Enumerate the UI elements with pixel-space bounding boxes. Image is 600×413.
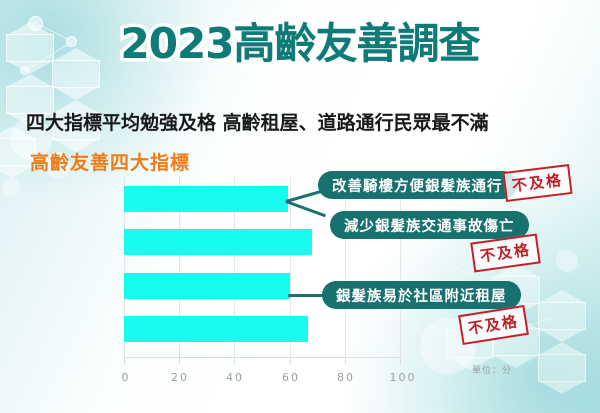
bar-value[interactable] <box>124 273 290 299</box>
x-tick-40 <box>234 358 235 364</box>
x-tick-0 <box>124 358 125 364</box>
gridline-100 <box>400 176 401 358</box>
page-title-outline: 2023高齡友善調查 <box>0 22 600 66</box>
x-ticklabel-0: 0 <box>122 371 131 384</box>
gridline-80 <box>345 176 346 358</box>
callout-label: 減少銀髮族交通事故傷亡 <box>344 215 515 236</box>
callout-label: 改善騎樓方便銀髮族通行 <box>332 175 503 196</box>
x-ticklabel-40: 40 <box>226 371 244 384</box>
infographic-canvas: 2023高齡友善調查 2023高齡友善調查 四大指標平均勉強及格 高齡租屋、道路… <box>0 0 600 413</box>
bar-value[interactable] <box>124 316 308 342</box>
bar-value[interactable] <box>124 186 288 212</box>
x-tick-100 <box>400 358 401 364</box>
fail-stamp-label: 不及格 <box>511 171 564 195</box>
subtitle: 四大指標平均勉強及格 高齡租屋、道路通行民眾最不滿 <box>26 108 574 135</box>
x-ticklabel-60: 60 <box>282 371 300 384</box>
x-ticklabel-80: 80 <box>337 371 355 384</box>
unit-note: 單位：分 <box>472 363 512 376</box>
bar-chart: 0 20 40 60 80 100 行動無礙 交通暢行 居住友善 生活照顧 <box>0 176 420 376</box>
bar-value[interactable] <box>124 229 312 255</box>
fail-stamp-label: 不及格 <box>479 241 532 266</box>
section-heading: 高齡友善四大指標 <box>30 148 190 175</box>
fail-stamp-label: 不及格 <box>467 312 520 338</box>
x-ticklabel-20: 20 <box>171 371 189 384</box>
callout-label: 銀髮族易於社區附近租屋 <box>336 285 507 306</box>
page-title: 2023高齡友善調查 <box>121 22 480 66</box>
x-ticklabel-100: 100 <box>390 371 417 384</box>
x-tick-60 <box>290 358 291 364</box>
x-axis-line <box>124 357 400 358</box>
callout-pill-1[interactable]: 改善騎樓方便銀髮族通行 <box>318 171 517 199</box>
x-tick-20 <box>179 358 180 364</box>
chart-plot-area: 0 20 40 60 80 100 行動無礙 交通暢行 居住友善 生活照顧 <box>124 176 400 358</box>
x-tick-80 <box>345 358 346 364</box>
callout-pill-3[interactable]: 銀髮族易於社區附近租屋 <box>322 281 521 309</box>
callout-pill-2[interactable]: 減少銀髮族交通事故傷亡 <box>330 211 529 239</box>
